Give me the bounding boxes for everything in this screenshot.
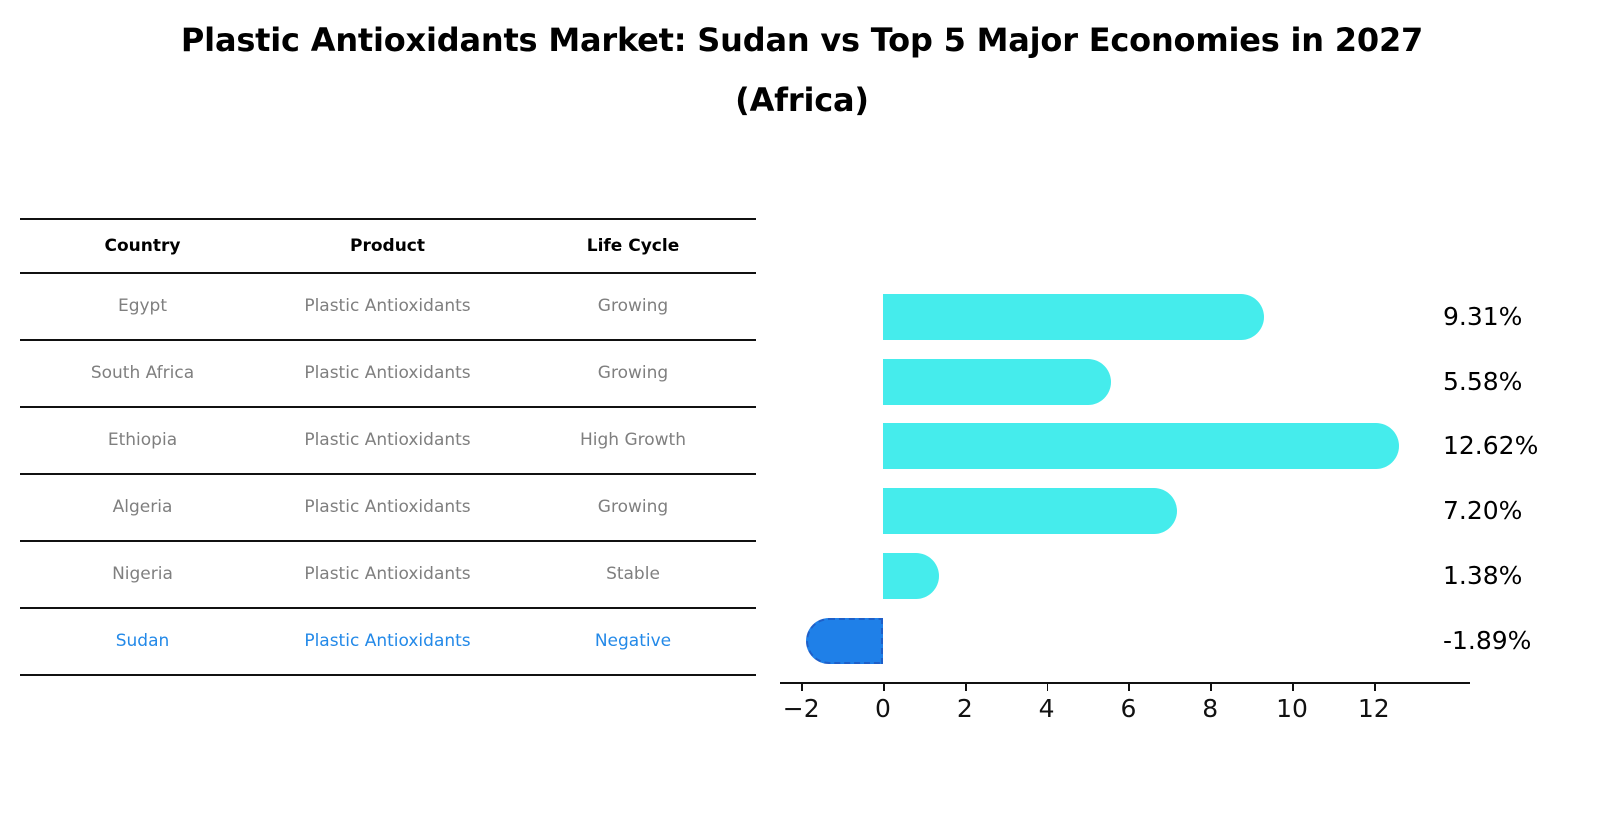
bar-ethiopia	[883, 423, 1399, 469]
bar-chart: −2024681012 9.31%5.58%12.62%7.20%1.38%-1…	[760, 270, 1604, 750]
x-tick	[883, 682, 885, 691]
bar-value-label: -1.89%	[1443, 618, 1531, 664]
chart-page: Plastic Antioxidants Market: Sudan vs To…	[0, 0, 1604, 823]
table-row: Ethiopia Plastic Antioxidants High Growt…	[20, 407, 756, 474]
x-tick-label: 8	[1202, 694, 1218, 723]
x-tick	[801, 682, 803, 691]
x-tick-label: 4	[1039, 694, 1055, 723]
x-tick	[1047, 682, 1049, 691]
x-tick	[1374, 682, 1376, 691]
bar-value-label: 1.38%	[1443, 553, 1522, 599]
bar-algeria	[883, 488, 1177, 534]
cell-life-cycle: Stable	[510, 541, 756, 608]
column-header-country: Country	[20, 219, 265, 273]
plot-area: −2024681012 9.31%5.58%12.62%7.20%1.38%-1…	[760, 270, 1480, 682]
x-tick-label: 12	[1358, 694, 1390, 723]
x-tick	[1210, 682, 1212, 691]
cell-country: Algeria	[20, 474, 265, 541]
x-tick	[1292, 682, 1294, 691]
cell-product: Plastic Antioxidants	[265, 474, 510, 541]
x-tick-label: −2	[783, 694, 820, 723]
cell-life-cycle: High Growth	[510, 407, 756, 474]
table-row: Algeria Plastic Antioxidants Growing	[20, 474, 756, 541]
bar-value-label: 5.58%	[1443, 359, 1522, 405]
x-tick-label: 2	[957, 694, 973, 723]
table-row: South Africa Plastic Antioxidants Growin…	[20, 340, 756, 407]
cell-life-cycle: Growing	[510, 474, 756, 541]
cell-product: Plastic Antioxidants	[265, 541, 510, 608]
cell-country: South Africa	[20, 340, 265, 407]
cell-country: Ethiopia	[20, 407, 265, 474]
title-line-1: Plastic Antioxidants Market: Sudan vs To…	[0, 10, 1604, 70]
table-row: Nigeria Plastic Antioxidants Stable	[20, 541, 756, 608]
bar-value-label: 7.20%	[1443, 488, 1522, 534]
x-tick	[965, 682, 967, 691]
bar-sudan	[806, 618, 883, 664]
country-table-wrapper: Country Product Life Cycle Egypt Plastic…	[20, 218, 756, 676]
x-tick-label: 0	[875, 694, 891, 723]
x-tick	[1128, 682, 1130, 691]
bar-egypt	[883, 294, 1264, 340]
cell-product: Plastic Antioxidants	[265, 340, 510, 407]
country-table: Country Product Life Cycle Egypt Plastic…	[20, 218, 756, 676]
title-line-2: (Africa)	[0, 70, 1604, 130]
bar-value-label: 9.31%	[1443, 294, 1522, 340]
column-header-product: Product	[265, 219, 510, 273]
bar-value-label: 12.62%	[1443, 423, 1538, 469]
x-tick-label: 10	[1276, 694, 1308, 723]
cell-life-cycle: Growing	[510, 340, 756, 407]
x-tick-label: 6	[1120, 694, 1136, 723]
cell-product: Plastic Antioxidants	[265, 608, 510, 675]
table-row: Egypt Plastic Antioxidants Growing	[20, 273, 756, 340]
cell-product: Plastic Antioxidants	[265, 407, 510, 474]
table-header: Country Product Life Cycle	[20, 219, 756, 273]
bar-nigeria	[883, 553, 939, 599]
table-header-row: Country Product Life Cycle	[20, 219, 756, 273]
table-row-highlighted: Sudan Plastic Antioxidants Negative	[20, 608, 756, 675]
cell-life-cycle: Negative	[510, 608, 756, 675]
cell-country: Egypt	[20, 273, 265, 340]
cell-country: Sudan	[20, 608, 265, 675]
page-title: Plastic Antioxidants Market: Sudan vs To…	[0, 10, 1604, 130]
cell-product: Plastic Antioxidants	[265, 273, 510, 340]
bar-south-africa	[883, 359, 1111, 405]
column-header-life-cycle: Life Cycle	[510, 219, 756, 273]
cell-country: Nigeria	[20, 541, 265, 608]
cell-life-cycle: Growing	[510, 273, 756, 340]
table-body: Egypt Plastic Antioxidants Growing South…	[20, 273, 756, 675]
